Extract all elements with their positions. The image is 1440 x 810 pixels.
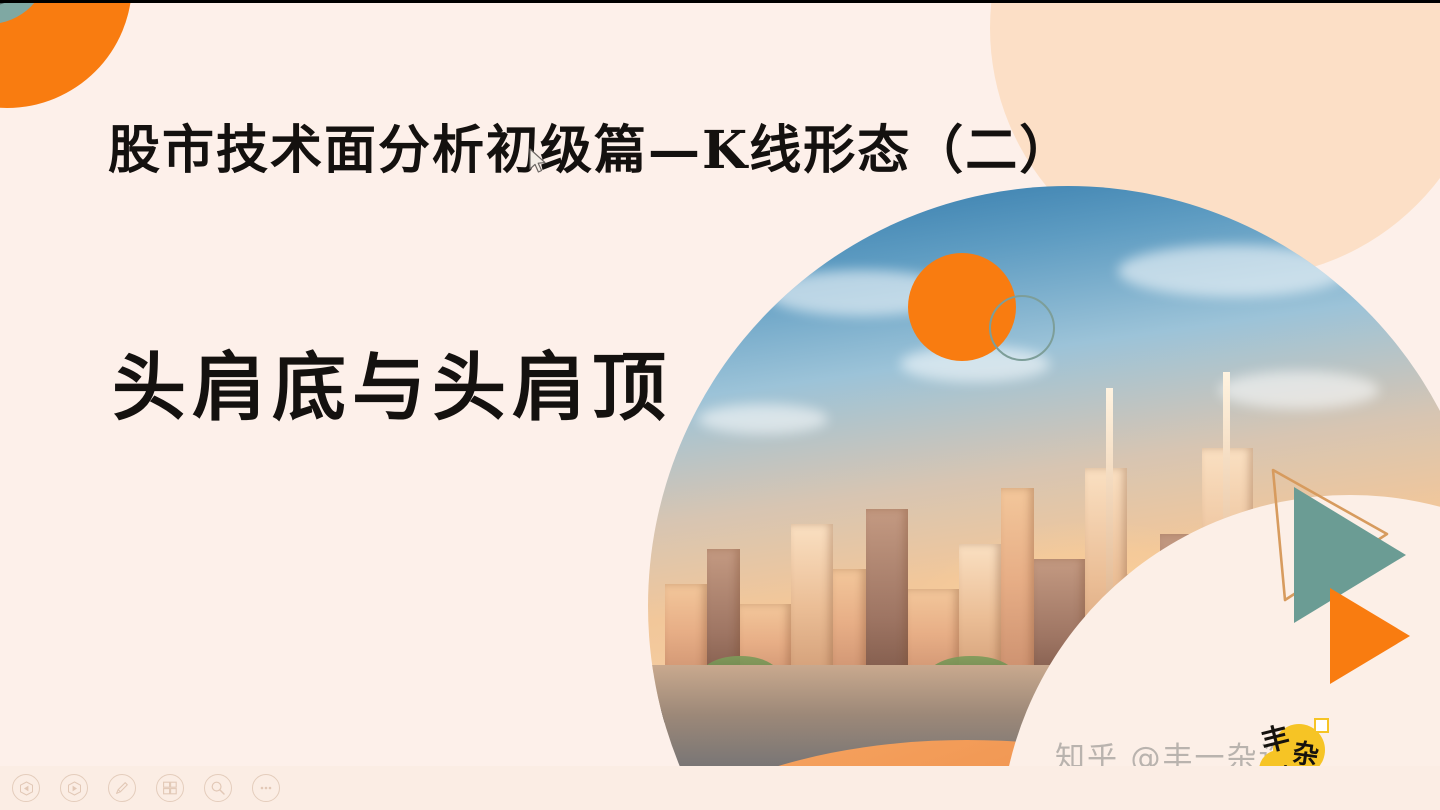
stamp-dot-icon <box>1314 718 1329 733</box>
presentation-slide: 股市技术面分析初级篇—K线形态（二） 头肩底与头肩顶 知乎 @丰一杂谈 丰 杂 … <box>0 0 1440 810</box>
top-letterbox-bar <box>0 0 1440 3</box>
previous-slide-button[interactable] <box>12 774 40 802</box>
more-options-button[interactable] <box>252 774 280 802</box>
slide-headline: 头肩底与头肩顶 <box>112 328 672 435</box>
slide-title: 股市技术面分析初级篇—K线形态（二） <box>108 108 1073 183</box>
stamp-char-1: 丰 <box>1256 715 1293 761</box>
triangle-orange-icon <box>1330 588 1410 684</box>
photo-teal-ring-circle <box>989 295 1055 361</box>
top-left-orange-circle <box>0 0 132 108</box>
presentation-toolbar <box>0 766 1440 810</box>
pen-tool-button[interactable] <box>108 774 136 802</box>
mouse-pointer-icon <box>528 148 548 179</box>
slide-overview-button[interactable] <box>156 774 184 802</box>
next-slide-button[interactable] <box>60 774 88 802</box>
zoom-tool-button[interactable] <box>204 774 232 802</box>
